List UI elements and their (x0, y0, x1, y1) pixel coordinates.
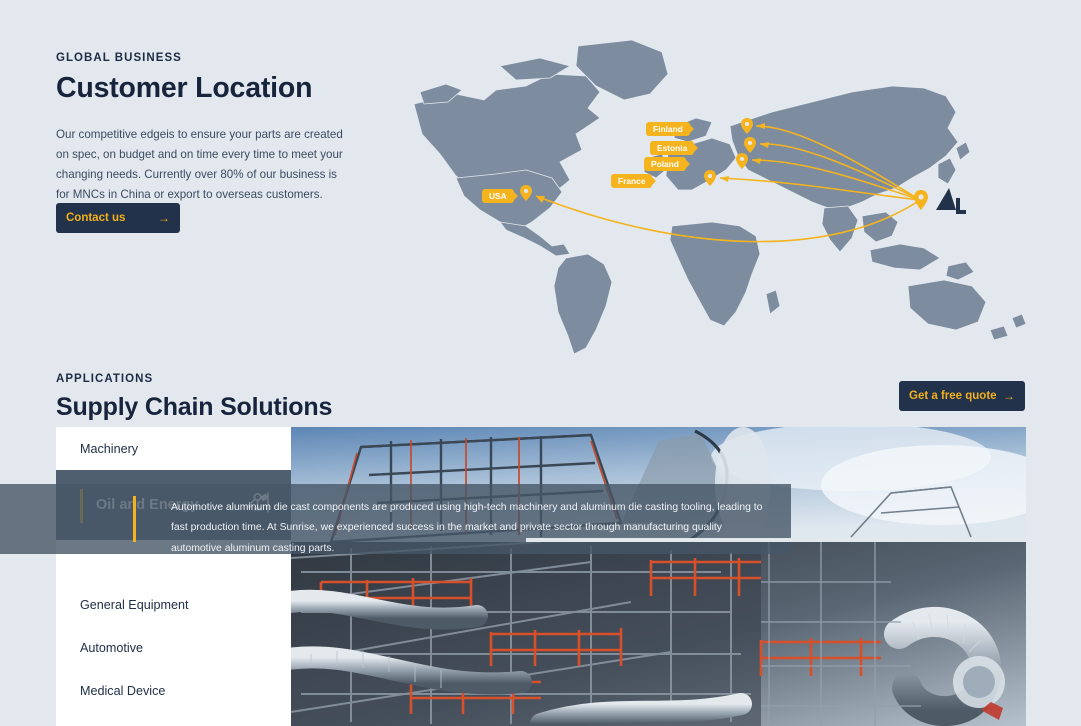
map-pin-label-finland[interactable]: Finland (646, 122, 690, 136)
applications-panel: Machinery Oil and Energy (56, 427, 1026, 726)
tab-other[interactable]: Other (56, 712, 291, 726)
contact-us-label: Contact us (66, 212, 125, 224)
tab-label: Medical Device (80, 684, 165, 698)
page-title-supply-chain-solutions: Supply Chain Solutions (56, 393, 332, 422)
refinery-pipework-photo (291, 542, 1026, 726)
tab-machinery[interactable]: Machinery (56, 427, 291, 470)
map-origin-marker-china (914, 190, 928, 210)
world-map[interactable]: Finland Estonia Poland France USA (400, 30, 1050, 370)
tab-automotive[interactable]: Automotive (56, 626, 291, 669)
map-pin-label-usa[interactable]: USA (482, 189, 514, 203)
applications-heading-block: APPLICATIONS Supply Chain Solutions (56, 373, 332, 422)
map-pin-label-estonia[interactable]: Estonia (650, 141, 694, 155)
tab-medical-device[interactable]: Medical Device (56, 669, 291, 712)
tab-label: Automotive (80, 641, 143, 655)
arrow-right-icon: → (1003, 390, 1015, 402)
tab-general-equipment[interactable]: General Equipment (56, 583, 291, 626)
arrow-right-icon: → (158, 212, 170, 224)
map-pin-label-france[interactable]: France (611, 174, 652, 188)
overlay-accent-bar (133, 496, 136, 542)
section-eyebrow-global-business: GLOBAL BUSINESS (56, 52, 356, 64)
map-pin-label-poland[interactable]: Poland (644, 157, 686, 171)
customer-location-text-block: GLOBAL BUSINESS Customer Location Our co… (56, 52, 356, 205)
get-a-free-quote-button[interactable]: Get a free quote → (899, 381, 1025, 411)
photo-divider (526, 538, 1026, 542)
landing-page: GLOBAL BUSINESS Customer Location Our co… (0, 0, 1081, 726)
contact-us-button[interactable]: Contact us → (56, 203, 180, 233)
section-eyebrow-applications: APPLICATIONS (56, 373, 332, 385)
applications-tab-list: Machinery Oil and Energy (56, 427, 291, 726)
application-media (291, 427, 1026, 726)
company-logo-mark (936, 188, 966, 214)
page-title-customer-location: Customer Location (56, 72, 356, 105)
application-description-text: Automotive aluminum die cast components … (171, 498, 765, 559)
get-a-free-quote-label: Get a free quote (909, 390, 997, 402)
customer-location-paragraph: Our competitive edgeis to ensure your pa… (56, 125, 346, 205)
tab-label: General Equipment (80, 598, 189, 612)
application-description-overlay: Automotive aluminum die cast components … (0, 484, 791, 554)
tab-label: Machinery (80, 442, 138, 456)
